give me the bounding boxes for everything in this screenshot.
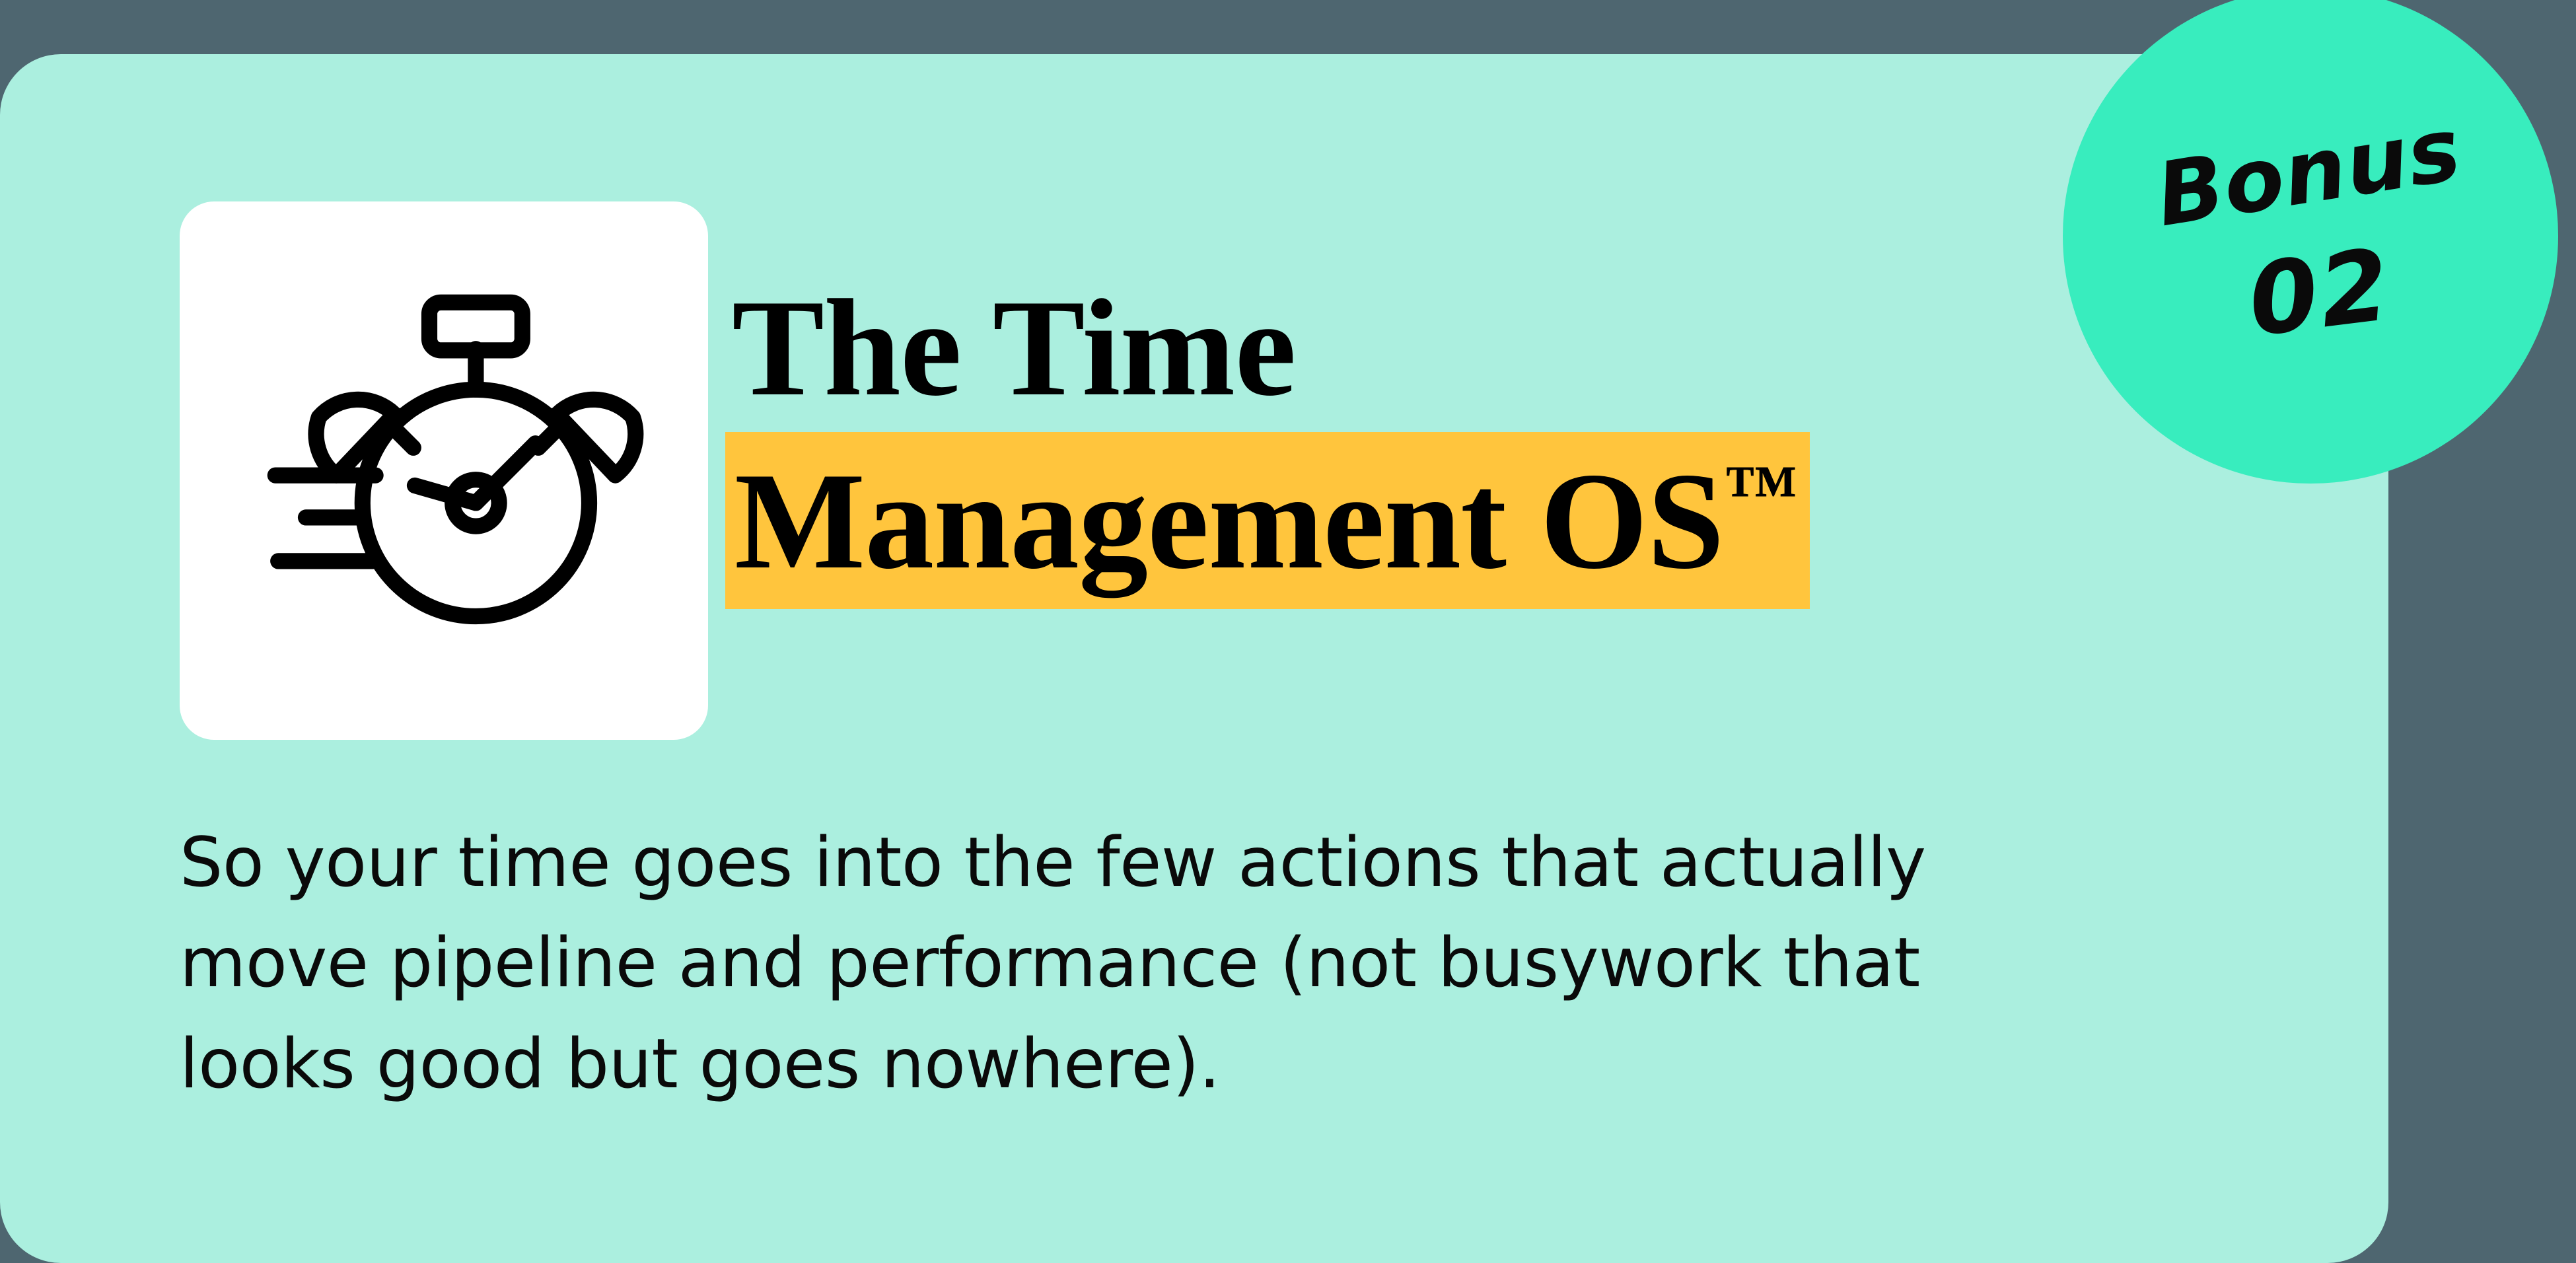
body-line-3: looks good but goes nowhere). — [180, 1014, 2135, 1114]
bonus-badge-label: Bonus — [2151, 106, 2466, 240]
headline-line-2: Management OS — [734, 452, 1724, 591]
headline-line-1: The Time — [725, 279, 2244, 417]
body-copy: So your time goes into the few actions t… — [180, 812, 2135, 1114]
icon-tile — [180, 201, 708, 740]
bonus-badge: Bonus 02 — [2063, 0, 2558, 484]
body-line-1: So your time goes into the few actions t… — [180, 812, 2135, 913]
slide-canvas: The Time Management OS™ So your time goe… — [0, 0, 2576, 1263]
stopwatch-alarm-clock-icon — [226, 253, 662, 689]
bonus-badge-number: 02 — [2243, 235, 2396, 351]
body-line-2: move pipeline and performance (not busyw… — [180, 913, 2135, 1013]
trademark-symbol: ™ — [1724, 451, 1798, 532]
bonus-card: The Time Management OS™ So your time goe… — [0, 54, 2388, 1263]
headline: The Time Management OS™ — [725, 279, 2244, 609]
headline-highlight: Management OS™ — [725, 432, 1810, 609]
